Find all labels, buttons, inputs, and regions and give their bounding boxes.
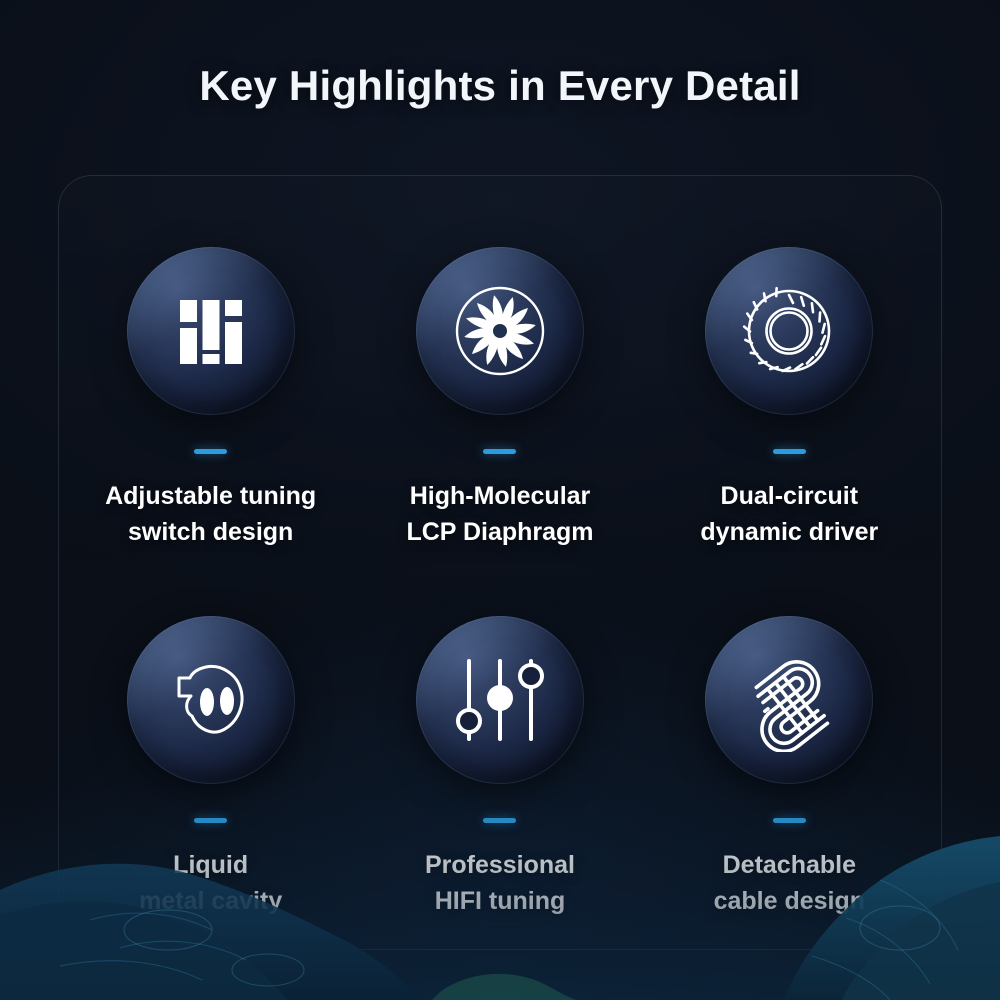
- feature-label: Adjustable tuning switch design: [105, 478, 316, 550]
- tuning-switch-icon: [168, 288, 254, 374]
- earphone-cavity-icon: [161, 650, 261, 750]
- accent-divider: [194, 449, 227, 454]
- feature-label: High-Molecular LCP Diaphragm: [406, 478, 593, 550]
- highlights-page: Key Highlights in Every Detail Adjus: [0, 0, 1000, 1000]
- feature-icon-badge: [127, 616, 295, 784]
- feature-icon-badge: [416, 247, 584, 415]
- dynamic-driver-icon: [739, 281, 839, 381]
- coiled-cable-icon: [737, 648, 841, 752]
- accent-divider: [483, 449, 516, 454]
- feature-card-dynamic-driver[interactable]: Dual-circuit dynamic driver: [645, 197, 934, 566]
- feature-icon-badge: [705, 616, 873, 784]
- feature-icon-badge: [127, 247, 295, 415]
- feature-icon-badge: [416, 616, 584, 784]
- accent-divider: [773, 449, 806, 454]
- feature-card-lcp-diaphragm[interactable]: High-Molecular LCP Diaphragm: [355, 197, 644, 566]
- feature-card-tuning-switch[interactable]: Adjustable tuning switch design: [66, 197, 355, 566]
- page-title: Key Highlights in Every Detail: [0, 62, 1000, 110]
- diaphragm-swirl-icon: [450, 281, 550, 381]
- feature-label: Dual-circuit dynamic driver: [700, 478, 878, 550]
- equalizer-sliders-icon: [452, 652, 548, 748]
- feature-icon-badge: [705, 247, 873, 415]
- underwater-terrain-decoration: [0, 770, 1000, 1000]
